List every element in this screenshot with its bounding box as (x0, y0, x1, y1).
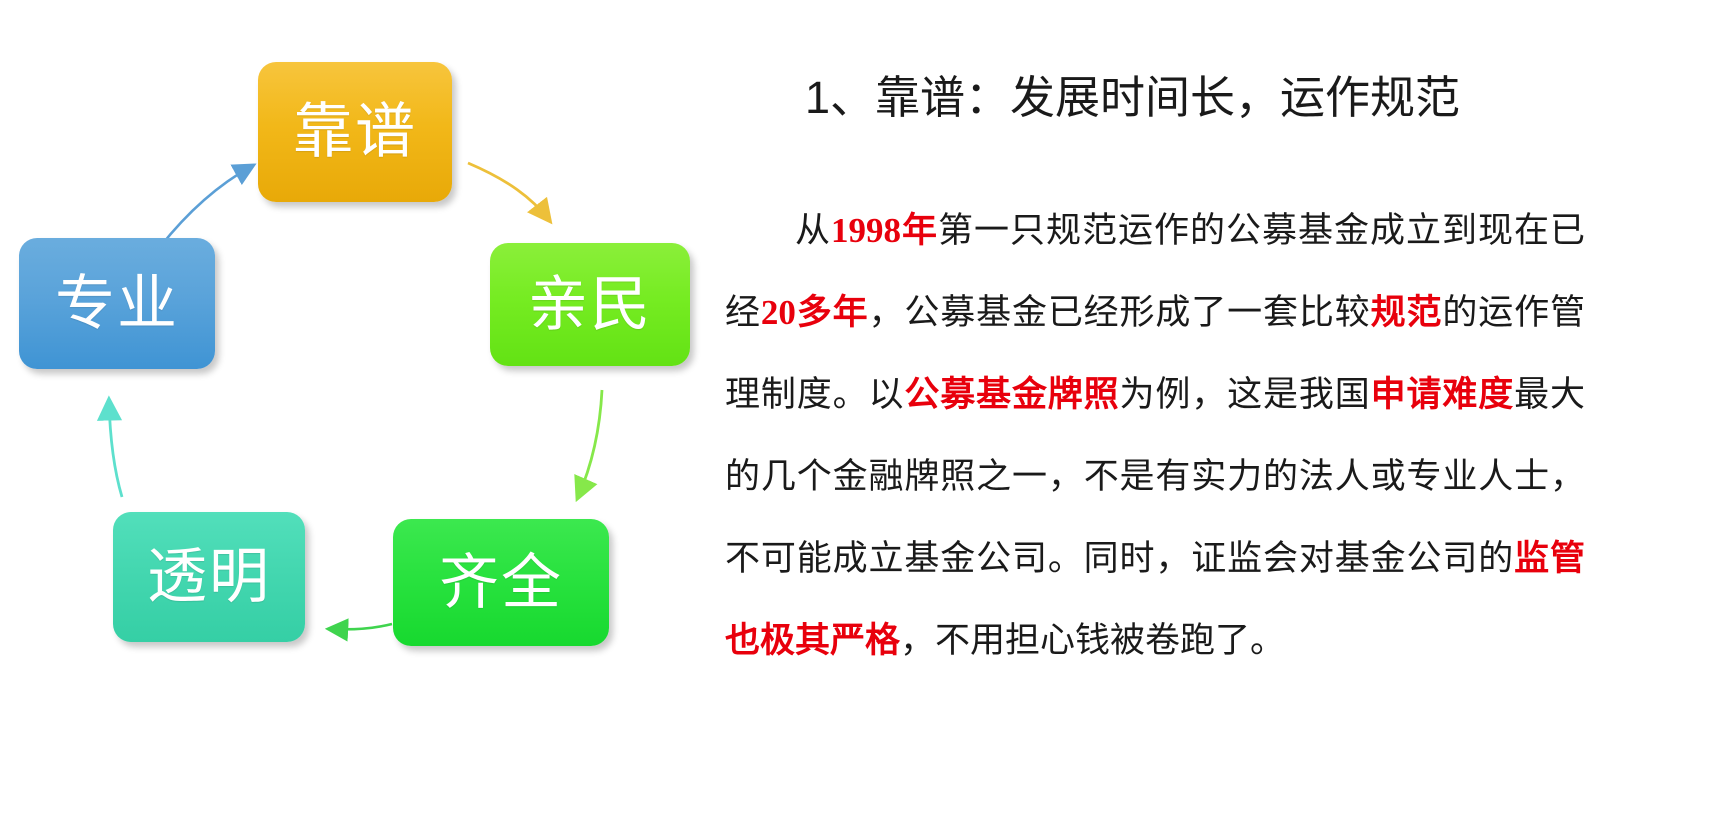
paragraph-text: ，不用担心钱被卷跑了。 (900, 621, 1285, 660)
paragraph-highlight: 申请难度 (1371, 375, 1514, 414)
cycle-node-zhuanye-label: 专业 (55, 274, 179, 334)
cycle-node-touming-label: 透明 (147, 547, 271, 607)
cycle-node-zhuanye[interactable]: 专业 (19, 238, 215, 369)
arrow-qinmin-to-qiquan (578, 390, 602, 497)
cycle-node-qinmin-label: 亲民 (528, 275, 652, 335)
arrow-qiquan-to-touming (330, 624, 392, 629)
arrow-kaopu-to-qinmin (468, 163, 549, 220)
paragraph-text: ，公募基金已经形成了一套比较 (868, 293, 1370, 332)
advantages-cycle-diagram: 靠谱 亲民 齐全 透明 专业 (0, 0, 790, 833)
paragraph-text: 为例，这是我国 (1120, 375, 1371, 414)
cycle-node-qinmin[interactable]: 亲民 (490, 243, 690, 366)
cycle-node-kaopu-label: 靠谱 (293, 102, 417, 162)
cycle-node-touming[interactable]: 透明 (113, 512, 305, 642)
cycle-node-kaopu[interactable]: 靠谱 (258, 62, 452, 202)
paragraph-highlight: 公募基金牌照 (904, 375, 1119, 414)
body-paragraph: 从1998年第一只规范运作的公募基金成立到现在已经20多年，公募基金已经形成了一… (725, 190, 1585, 682)
text-column: 1、靠谱：发展时间长，运作规范 从1998年第一只规范运作的公募基金成立到现在已… (790, 0, 1725, 833)
paragraph-text: 从 (795, 211, 831, 250)
arrow-touming-to-zhuanye (109, 401, 122, 497)
cycle-node-qiquan-label: 齐全 (439, 553, 563, 613)
paragraph-highlight: 20多年 (761, 293, 869, 332)
slide-canvas: 靠谱 亲民 齐全 透明 专业 1、靠谱：发展时间长，运作规范 从1998年第一只… (0, 0, 1725, 833)
arrow-zhuanye-to-kaopu (160, 166, 252, 247)
paragraph-highlight: 1998年 (831, 211, 938, 250)
paragraph-highlight: 规范 (1371, 293, 1443, 332)
cycle-node-qiquan[interactable]: 齐全 (393, 519, 609, 646)
section-heading: 1、靠谱：发展时间长，运作规范 (805, 73, 1460, 123)
